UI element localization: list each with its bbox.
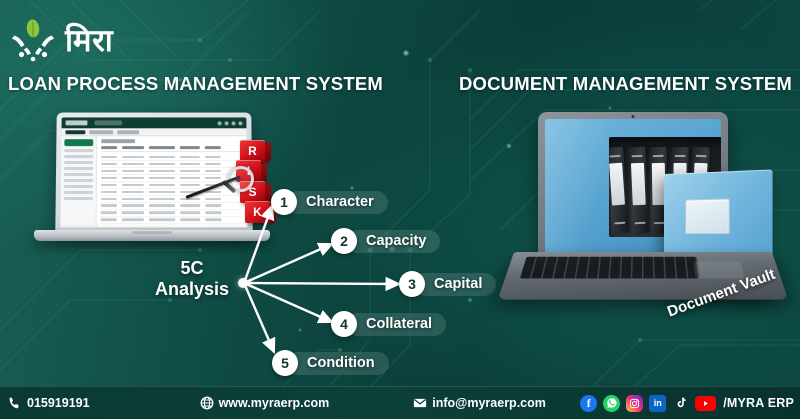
- footer-social-handle: /MYRA ERP: [723, 396, 794, 410]
- footer-email[interactable]: info@myraerp.com: [413, 396, 546, 410]
- footer-phone[interactable]: 015919191: [8, 396, 90, 410]
- footer-email-text: info@myraerp.com: [432, 396, 546, 410]
- label-character: Character: [286, 191, 388, 214]
- drawer-label-tag: [685, 198, 729, 234]
- facebook-icon[interactable]: f: [580, 395, 597, 412]
- badge-number-5: 5: [272, 350, 298, 376]
- instagram-icon[interactable]: [626, 395, 643, 412]
- five-c-item-capital[interactable]: 3 Capital: [399, 271, 496, 297]
- label-condition: Condition: [287, 352, 389, 375]
- badge-number-4: 4: [331, 311, 357, 337]
- footer-bar: 015919191 www.myraerp.com info@myraerp.c…: [0, 386, 800, 419]
- binder: [628, 147, 649, 234]
- footer-website-text: www.myraerp.com: [219, 396, 330, 410]
- label-capital: Capital: [414, 273, 496, 296]
- label-collateral: Collateral: [346, 313, 446, 336]
- tiktok-icon[interactable]: [672, 395, 689, 412]
- five-c-item-capacity[interactable]: 2 Capacity: [331, 228, 440, 254]
- footer-website[interactable]: www.myraerp.com: [200, 396, 330, 410]
- label-capacity: Capacity: [346, 230, 440, 253]
- linkedin-icon[interactable]: in: [649, 395, 666, 412]
- document-vault-illustration: [508, 112, 798, 342]
- five-c-item-collateral[interactable]: 4 Collateral: [331, 311, 446, 337]
- envelope-icon: [413, 396, 427, 410]
- badge-number-3: 3: [399, 271, 425, 297]
- five-c-item-character[interactable]: 1 Character: [271, 189, 388, 215]
- diagram-hub-node: [238, 278, 248, 288]
- badge-number-1: 1: [271, 189, 297, 215]
- five-c-item-condition[interactable]: 5 Condition: [272, 350, 389, 376]
- vault-trackpad: [693, 262, 744, 279]
- globe-icon: [200, 396, 214, 410]
- arrow-to-capital: [244, 283, 399, 284]
- binder: [609, 147, 629, 234]
- footer-social-links: f in /MYRA ERP: [580, 395, 794, 412]
- footer-phone-text: 015919191: [27, 396, 90, 410]
- poster-canvas: मिरा LOAN PROCESS MANAGEMENT SYSTEM DOCU…: [0, 0, 800, 419]
- badge-number-2: 2: [331, 228, 357, 254]
- whatsapp-icon[interactable]: [603, 395, 620, 412]
- youtube-icon[interactable]: [695, 396, 716, 411]
- phone-icon: [8, 396, 22, 410]
- vault-keyboard: [520, 257, 700, 279]
